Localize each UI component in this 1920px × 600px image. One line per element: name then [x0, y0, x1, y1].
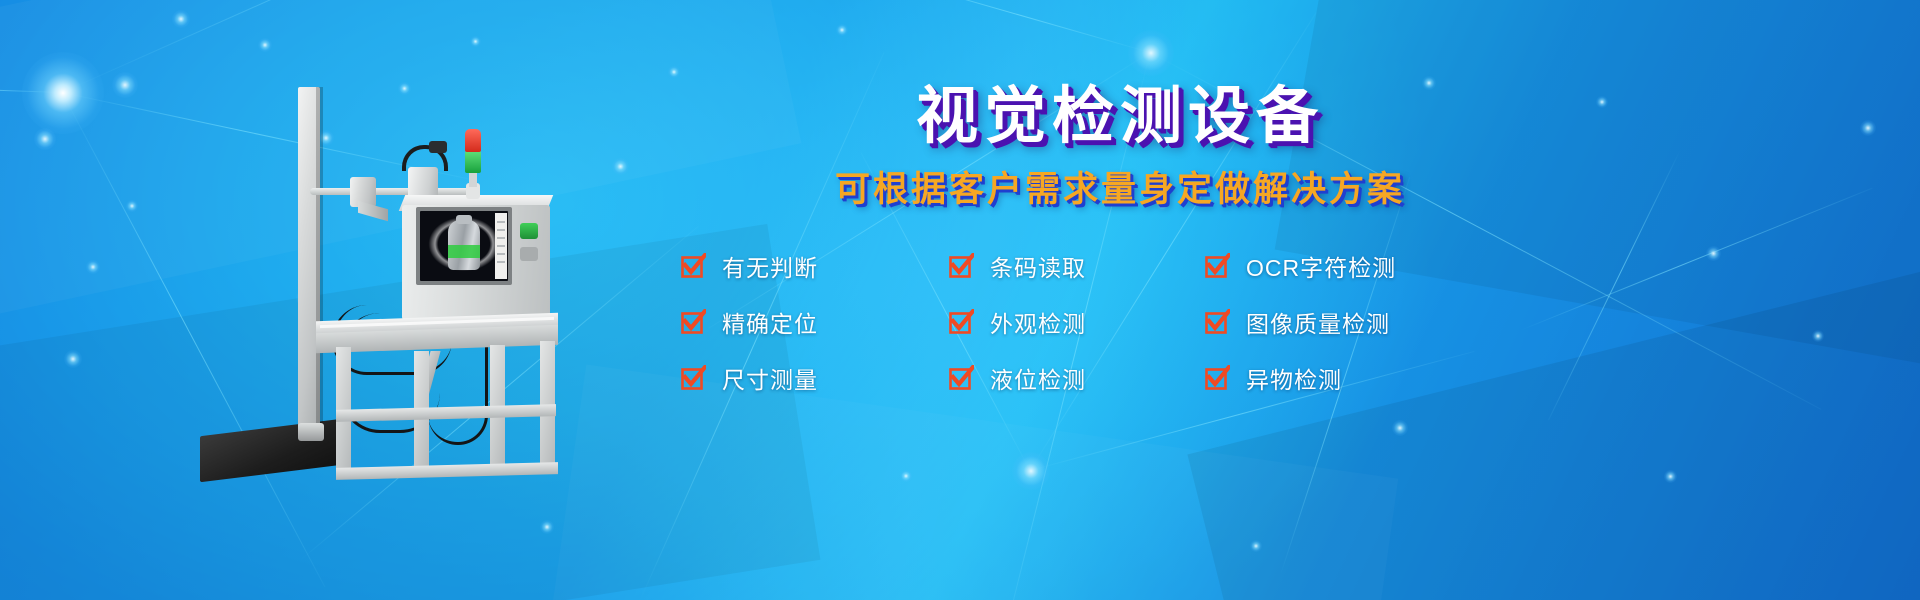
checkbox-checked-icon	[1204, 253, 1230, 279]
glow-node-icon	[34, 128, 56, 150]
camera-crossbar	[310, 188, 470, 195]
feature-item-8[interactable]: 异物检测	[1184, 361, 1484, 395]
post-shadow	[316, 87, 323, 437]
feature-label: 异物检测	[1246, 361, 1342, 395]
feature-item-3[interactable]: 精确定位	[660, 305, 928, 339]
start-button[interactable]	[520, 223, 538, 239]
checkbox-checked-icon	[1204, 309, 1230, 335]
feature-item-4[interactable]: 外观检测	[928, 305, 1184, 339]
banner-content: 视觉检测设备 可根据客户需求量身定做解决方案 有无判断	[780, 0, 1880, 600]
feature-label: 条码读取	[990, 249, 1086, 283]
glow-node-icon	[612, 158, 629, 175]
feature-list: 有无判断 条码读取 OCR字符检测	[660, 238, 1500, 406]
checkbox-checked-icon	[680, 365, 706, 391]
feature-label: 液位检测	[990, 361, 1086, 395]
signal-tower-neck	[469, 173, 477, 187]
bottle-label	[448, 245, 480, 258]
frame-crossbrace	[336, 462, 558, 480]
feature-label: 精确定位	[722, 305, 818, 339]
banner-subtitle: 可根据客户需求量身定做解决方案	[780, 172, 1460, 207]
feature-label: 外观检测	[990, 305, 1086, 339]
checkbox-checked-icon	[1204, 365, 1230, 391]
feature-item-6[interactable]: 尺寸测量	[660, 361, 928, 395]
checkbox-checked-icon	[680, 253, 706, 279]
signal-light-red	[465, 129, 481, 152]
glow-node-icon	[258, 38, 272, 52]
signal-light-green	[465, 151, 481, 173]
bottle-cap	[456, 215, 472, 224]
feature-item-5[interactable]: 图像质量检测	[1184, 305, 1484, 339]
checkbox-checked-icon	[680, 309, 706, 335]
checkbox-checked-icon	[948, 253, 974, 279]
glow-node-icon	[126, 200, 138, 212]
base-plate	[200, 418, 350, 482]
feature-label: 有无判断	[722, 249, 818, 283]
glow-node-icon	[668, 66, 680, 78]
checkbox-checked-icon	[948, 365, 974, 391]
banner-title: 视觉检测设备	[780, 86, 1460, 148]
feature-item-1[interactable]: 条码读取	[928, 249, 1184, 283]
glow-node-icon	[64, 350, 82, 368]
feature-label: 尺寸测量	[722, 361, 818, 395]
glow-node-icon	[86, 260, 100, 274]
post-foot	[298, 423, 324, 441]
camera-connector	[429, 141, 447, 153]
glow-node-icon	[470, 36, 481, 47]
feature-label: OCR字符检测	[1246, 249, 1396, 283]
monitor-side-panel	[495, 213, 507, 279]
network-line-icon	[0, 86, 62, 93]
glow-node-icon	[112, 72, 138, 98]
glow-node-icon	[540, 520, 554, 534]
feature-item-2[interactable]: OCR字符检测	[1184, 249, 1484, 283]
glow-node-icon	[172, 10, 190, 28]
feature-label: 图像质量检测	[1246, 305, 1390, 339]
promo-banner: 视觉检测设备 可根据客户需求量身定做解决方案 有无判断	[0, 0, 1920, 600]
checkbox-checked-icon	[948, 309, 974, 335]
feature-item-7[interactable]: 液位检测	[928, 361, 1184, 395]
feature-item-0[interactable]: 有无判断	[660, 249, 928, 283]
glow-node-icon	[22, 52, 104, 134]
stop-button[interactable]	[520, 247, 538, 261]
vision-inspection-machine-photo	[190, 55, 610, 485]
